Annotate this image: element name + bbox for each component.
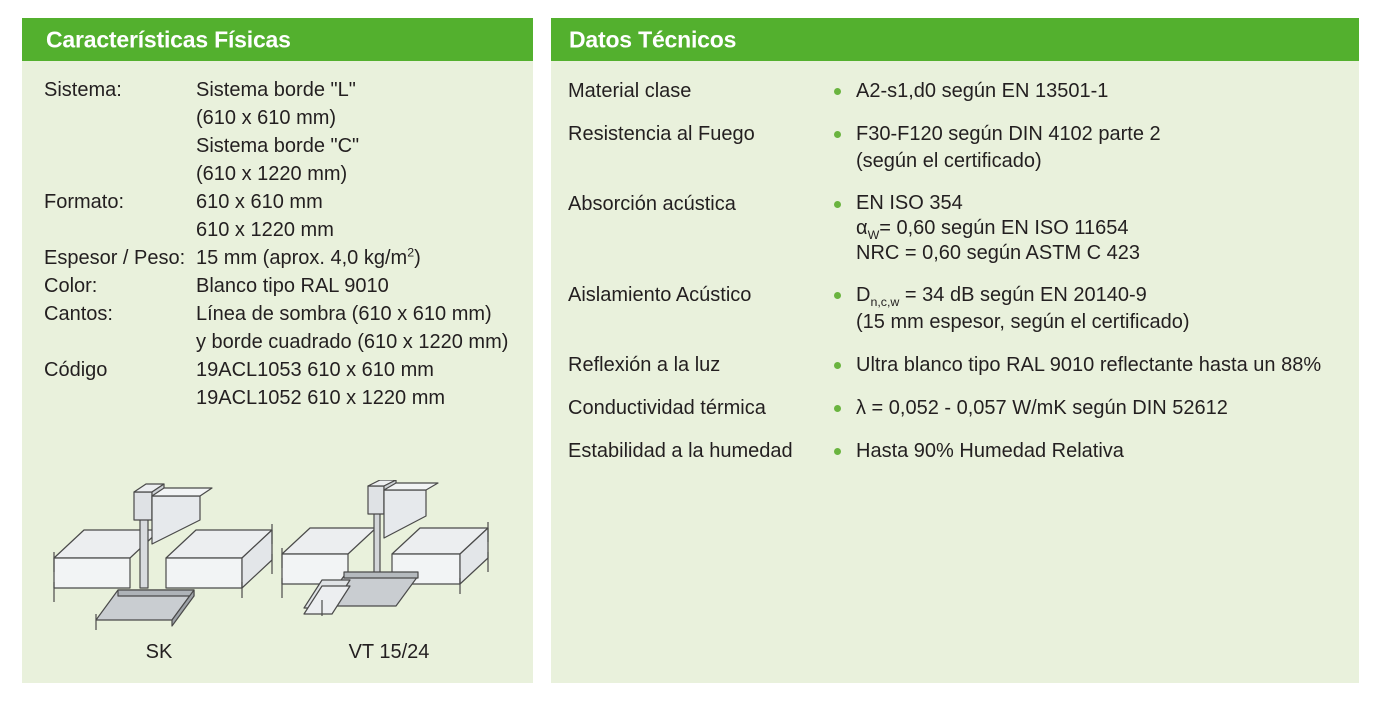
spec-value-line: Sistema borde "C" [196, 132, 524, 160]
bullet-icon [834, 438, 856, 465]
spec-values-espesor-peso: 15 mm (aprox. 4,0 kg/m2) [196, 244, 524, 272]
tech-value-line: A2-s1,d0 según EN 13501-1 [856, 78, 1358, 105]
sk-detail-drawing [44, 480, 274, 650]
tech-row-absorcion-acustica: Absorción acústica EN ISO 354 αW= 0,60 s… [568, 191, 1358, 266]
diagram-vt-caption: VT 15/24 [274, 641, 504, 664]
tech-values-absorcion-acustica: EN ISO 354 αW= 0,60 según EN ISO 11654 N… [856, 191, 1358, 266]
spec-value-line: 19ACL1053 610 x 610 mm [196, 356, 524, 384]
technical-data-panel: Datos Técnicos Material clase A2-s1,d0 s… [551, 18, 1359, 683]
spec-values-sistema: Sistema borde "L" (610 x 610 mm) Sistema… [196, 76, 524, 188]
spec-value-line: Línea de sombra (610 x 610 mm) [196, 300, 524, 328]
technical-data-title: Datos Técnicos [569, 26, 736, 53]
tech-label-estabilidad-humedad: Estabilidad a la humedad [568, 438, 834, 465]
tech-value-line: F30-F120 según DIN 4102 parte 2 [856, 121, 1358, 148]
bullet-icon [834, 78, 856, 105]
spec-row-espesor-peso: Espesor / Peso: 15 mm (aprox. 4,0 kg/m2) [44, 244, 524, 272]
tech-value-line: λ = 0,052 - 0,057 W/mK según DIN 52612 [856, 395, 1358, 422]
physical-characteristics-panel: Características Físicas Sistema: Sistema… [22, 18, 533, 683]
tech-values-material-clase: A2-s1,d0 según EN 13501-1 [856, 78, 1358, 105]
spec-value-line: (610 x 1220 mm) [196, 160, 524, 188]
diagram-sk: SK [44, 480, 274, 670]
tech-label-absorcion-acustica: Absorción acústica [568, 191, 834, 218]
spec-row-color: Color: Blanco tipo RAL 9010 [44, 272, 524, 300]
physical-spec-list: Sistema: Sistema borde "L" (610 x 610 mm… [44, 76, 524, 412]
bullet-icon [834, 121, 856, 148]
tech-row-aislamiento-acustico: Aislamiento Acústico Dn,c,w = 34 dB segú… [568, 282, 1358, 336]
tech-value-line: EN ISO 354 [856, 191, 1358, 216]
spec-row-sistema: Sistema: Sistema borde "L" (610 x 610 mm… [44, 76, 524, 188]
spec-row-cantos: Cantos: Línea de sombra (610 x 610 mm) y… [44, 300, 524, 356]
tech-label-conductividad-termica: Conductividad térmica [568, 395, 834, 422]
spec-label-color: Color: [44, 272, 196, 300]
tech-row-conductividad-termica: Conductividad térmica λ = 0,052 - 0,057 … [568, 395, 1358, 422]
tech-values-reflexion-luz: Ultra blanco tipo RAL 9010 reflectante h… [856, 352, 1358, 379]
spec-value-line: 15 mm (aprox. 4,0 kg/m2) [196, 244, 524, 272]
tech-row-estabilidad-humedad: Estabilidad a la humedad Hasta 90% Humed… [568, 438, 1358, 465]
physical-characteristics-title: Características Físicas [46, 26, 291, 53]
tech-value-line: (según el certificado) [856, 148, 1358, 175]
bullet-icon [834, 352, 856, 379]
bullet-icon [834, 395, 856, 422]
spec-value-line: 610 x 1220 mm [196, 216, 524, 244]
tech-row-resistencia-fuego: Resistencia al Fuego F30-F120 según DIN … [568, 121, 1358, 175]
vt-detail-drawing [274, 480, 504, 650]
spec-values-cantos: Línea de sombra (610 x 610 mm) y borde c… [196, 300, 524, 356]
tech-label-aislamiento-acustico: Aislamiento Acústico [568, 282, 834, 309]
tech-value-line: αW= 0,60 según EN ISO 11654 [856, 216, 1358, 241]
spec-value-line: Blanco tipo RAL 9010 [196, 272, 524, 300]
spec-label-espesor-peso: Espesor / Peso: [44, 244, 196, 272]
tech-values-resistencia-fuego: F30-F120 según DIN 4102 parte 2 (según e… [856, 121, 1358, 175]
tech-value-line: Hasta 90% Humedad Relativa [856, 438, 1358, 465]
detail-diagrams: SK [22, 480, 533, 670]
technical-data-list: Material clase A2-s1,d0 según EN 13501-1… [568, 78, 1358, 481]
tech-label-material-clase: Material clase [568, 78, 834, 105]
spec-value-line: 19ACL1052 610 x 1220 mm [196, 384, 524, 412]
spec-label-cantos: Cantos: [44, 300, 196, 328]
spec-row-codigo: Código 19ACL1053 610 x 610 mm 19ACL1052 … [44, 356, 524, 412]
tech-value-line: NRC = 0,60 según ASTM C 423 [856, 241, 1358, 266]
bullet-icon [834, 191, 856, 218]
spec-values-color: Blanco tipo RAL 9010 [196, 272, 524, 300]
tech-row-reflexion-luz: Reflexión a la luz Ultra blanco tipo RAL… [568, 352, 1358, 379]
tech-values-conductividad-termica: λ = 0,052 - 0,057 W/mK según DIN 52612 [856, 395, 1358, 422]
spec-row-formato: Formato: 610 x 610 mm 610 x 1220 mm [44, 188, 524, 244]
tech-value-line: Dn,c,w = 34 dB según EN 20140-9 [856, 282, 1358, 309]
spec-sheet: Características Físicas Sistema: Sistema… [0, 0, 1377, 726]
tech-row-material-clase: Material clase A2-s1,d0 según EN 13501-1 [568, 78, 1358, 105]
tech-values-aislamiento-acustico: Dn,c,w = 34 dB según EN 20140-9 (15 mm e… [856, 282, 1358, 336]
bullet-icon [834, 282, 856, 309]
spec-label-sistema: Sistema: [44, 76, 196, 104]
spec-values-codigo: 19ACL1053 610 x 610 mm 19ACL1052 610 x 1… [196, 356, 524, 412]
tech-value-line: (15 mm espesor, según el certificado) [856, 309, 1358, 336]
tech-values-estabilidad-humedad: Hasta 90% Humedad Relativa [856, 438, 1358, 465]
spec-label-formato: Formato: [44, 188, 196, 216]
physical-characteristics-header: Características Físicas [22, 18, 533, 61]
tech-label-resistencia-fuego: Resistencia al Fuego [568, 121, 834, 148]
technical-data-header: Datos Técnicos [551, 18, 1359, 61]
spec-value-line: Sistema borde "L" [196, 76, 524, 104]
tech-label-reflexion-luz: Reflexión a la luz [568, 352, 834, 379]
diagram-sk-caption: SK [44, 641, 274, 664]
spec-label-codigo: Código [44, 356, 196, 384]
tech-value-line: Ultra blanco tipo RAL 9010 reflectante h… [856, 352, 1358, 379]
spec-value-line: y borde cuadrado (610 x 1220 mm) [196, 328, 524, 356]
diagram-vt: VT 15/24 [274, 480, 504, 670]
spec-value-line: (610 x 610 mm) [196, 104, 524, 132]
spec-values-formato: 610 x 610 mm 610 x 1220 mm [196, 188, 524, 244]
spec-value-line: 610 x 610 mm [196, 188, 524, 216]
